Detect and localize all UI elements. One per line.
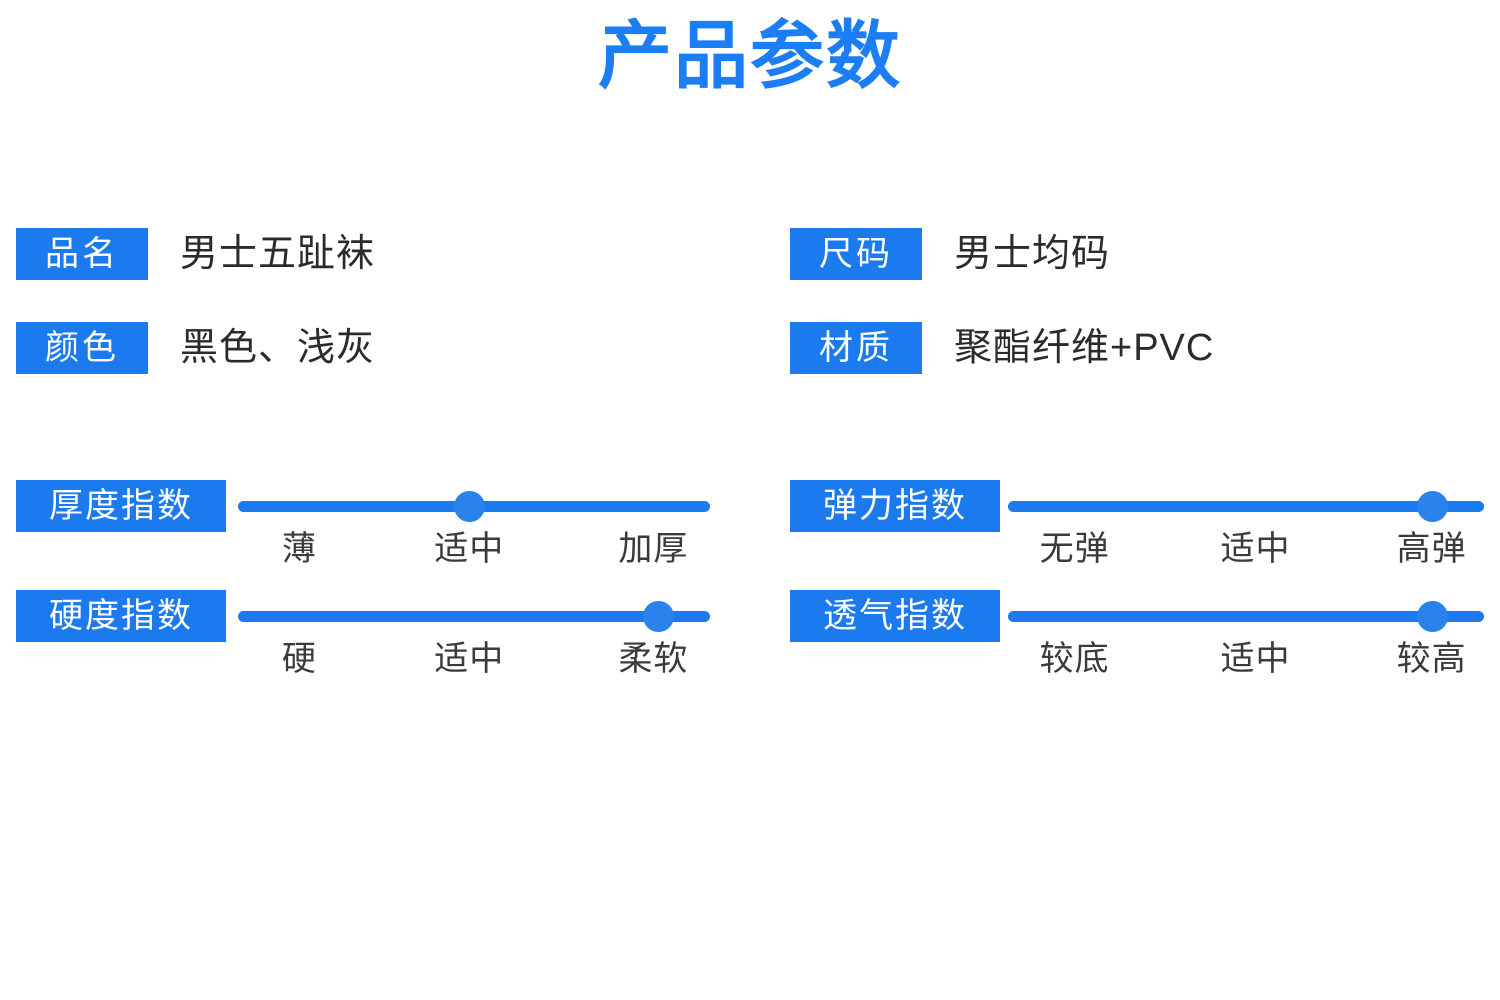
scale-label-thickness-mid: 适中 <box>434 523 504 575</box>
scale-label-elasticity-mid: 适中 <box>1221 523 1291 575</box>
index-label-thickness: 厚度指数 <box>16 480 226 532</box>
slider-knob-elasticity[interactable] <box>1417 491 1448 522</box>
slider-track-elasticity[interactable] <box>1008 501 1484 512</box>
spec-label-material: 材质 <box>790 322 922 374</box>
index-row-elasticity: 弹力指数 无弹 适中 高弹 <box>790 475 1490 595</box>
index-label-breathability: 透气指数 <box>790 590 1000 642</box>
scale-label-thickness-low: 薄 <box>282 523 317 575</box>
spec-value-material: 聚酯纤维+PVC <box>954 322 1214 374</box>
spec-row-product-name: 品名 男士五趾袜 <box>16 226 375 282</box>
spec-row-size: 尺码 男士均码 <box>790 226 1110 282</box>
scale-label-elasticity-low: 无弹 <box>1040 523 1110 575</box>
slider-knob-thickness[interactable] <box>454 491 485 522</box>
page-title: 产品参数 <box>0 10 1500 102</box>
index-row-thickness: 厚度指数 薄 适中 加厚 <box>16 475 716 595</box>
scale-label-hardness-mid: 适中 <box>434 633 504 685</box>
spec-row-color: 颜色 黑色、浅灰 <box>16 320 375 376</box>
slider-scale-breathability: 较底 适中 较高 <box>1008 633 1484 685</box>
slider-track-breathability[interactable] <box>1008 611 1484 622</box>
product-parameters-infographic: 产品参数 品名 男士五趾袜 尺码 男士均码 颜色 黑色、浅灰 材质 聚酯纤维+P… <box>0 0 1500 1000</box>
scale-label-thickness-high: 加厚 <box>618 523 688 575</box>
spec-label-product-name: 品名 <box>16 228 148 280</box>
scale-label-hardness-low: 硬 <box>282 633 317 685</box>
scale-label-breathability-mid: 适中 <box>1221 633 1291 685</box>
index-row-hardness: 硬度指数 硬 适中 柔软 <box>16 585 716 705</box>
slider-scale-elasticity: 无弹 适中 高弹 <box>1008 523 1484 575</box>
index-row-breathability: 透气指数 较底 适中 较高 <box>790 585 1490 705</box>
spec-value-size: 男士均码 <box>954 228 1110 280</box>
slider-track-hardness[interactable] <box>238 611 710 622</box>
scale-label-hardness-high: 柔软 <box>618 633 688 685</box>
slider-scale-thickness: 薄 适中 加厚 <box>238 523 710 575</box>
spec-row-material: 材质 聚酯纤维+PVC <box>790 320 1214 376</box>
spec-value-product-name: 男士五趾袜 <box>180 228 375 280</box>
slider-scale-hardness: 硬 适中 柔软 <box>238 633 710 685</box>
scale-label-breathability-low: 较底 <box>1040 633 1110 685</box>
index-label-hardness: 硬度指数 <box>16 590 226 642</box>
scale-label-elasticity-high: 高弹 <box>1397 523 1467 575</box>
slider-knob-hardness[interactable] <box>643 601 674 632</box>
scale-label-breathability-high: 较高 <box>1397 633 1467 685</box>
index-label-elasticity: 弹力指数 <box>790 480 1000 532</box>
spec-value-color: 黑色、浅灰 <box>180 322 375 374</box>
spec-label-color: 颜色 <box>16 322 148 374</box>
spec-label-size: 尺码 <box>790 228 922 280</box>
slider-knob-breathability[interactable] <box>1417 601 1448 632</box>
